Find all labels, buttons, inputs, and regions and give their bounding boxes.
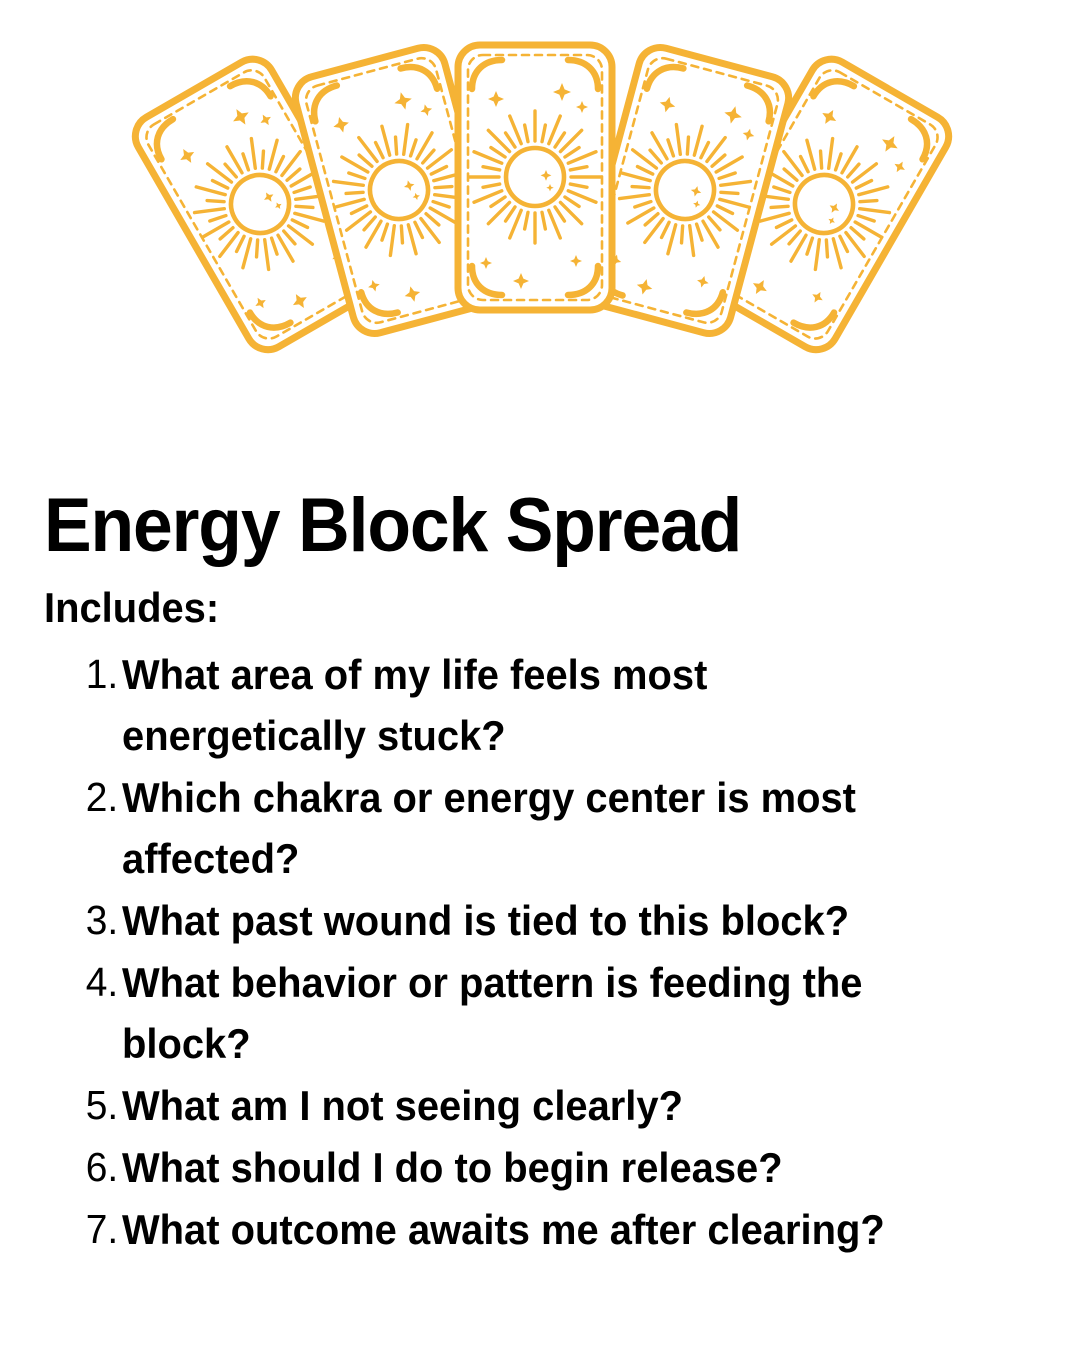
spread-card-page: Energy Block Spread Includes: 1. What ar… [0,0,1080,1350]
list-item-number: 6. [48,1137,122,1198]
list-item-text: What should I do to begin release? [122,1137,958,1198]
list-item: 7. What outcome awaits me after clearing… [44,1199,1024,1260]
list-item-text: What behavior or pattern is feeding the … [122,952,958,1074]
tarot-card-fan-illustration [0,0,1080,425]
list-item-number: 5. [48,1075,122,1136]
list-item-text: What am I not seeing clearly? [122,1075,958,1136]
includes-question-list: 1. What area of my life feels most energ… [44,644,1024,1261]
list-item-number: 7. [48,1199,122,1260]
list-item-number: 1. [48,644,122,705]
list-item: 4. What behavior or pattern is feeding t… [44,952,1024,1074]
includes-label: Includes: [44,586,219,630]
list-item: 5. What am I not seeing clearly? [44,1075,1024,1136]
list-item: 6. What should I do to begin release? [44,1137,1024,1198]
page-title: Energy Block Spread [44,488,741,564]
list-item-number: 4. [48,952,122,1013]
list-item-text: What area of my life feels most energeti… [122,644,958,766]
list-item: 2. Which chakra or energy center is most… [44,767,1024,889]
list-item-text: What outcome awaits me after clearing? [122,1199,958,1260]
tarot-card-3 [458,45,612,310]
list-item-text: What past wound is tied to this block? [122,890,958,951]
list-item-number: 2. [48,767,122,828]
list-item: 3. What past wound is tied to this block… [44,890,1024,951]
list-item: 1. What area of my life feels most energ… [44,644,1024,766]
list-item-text: Which chakra or energy center is most af… [122,767,958,889]
list-item-number: 3. [48,890,122,951]
